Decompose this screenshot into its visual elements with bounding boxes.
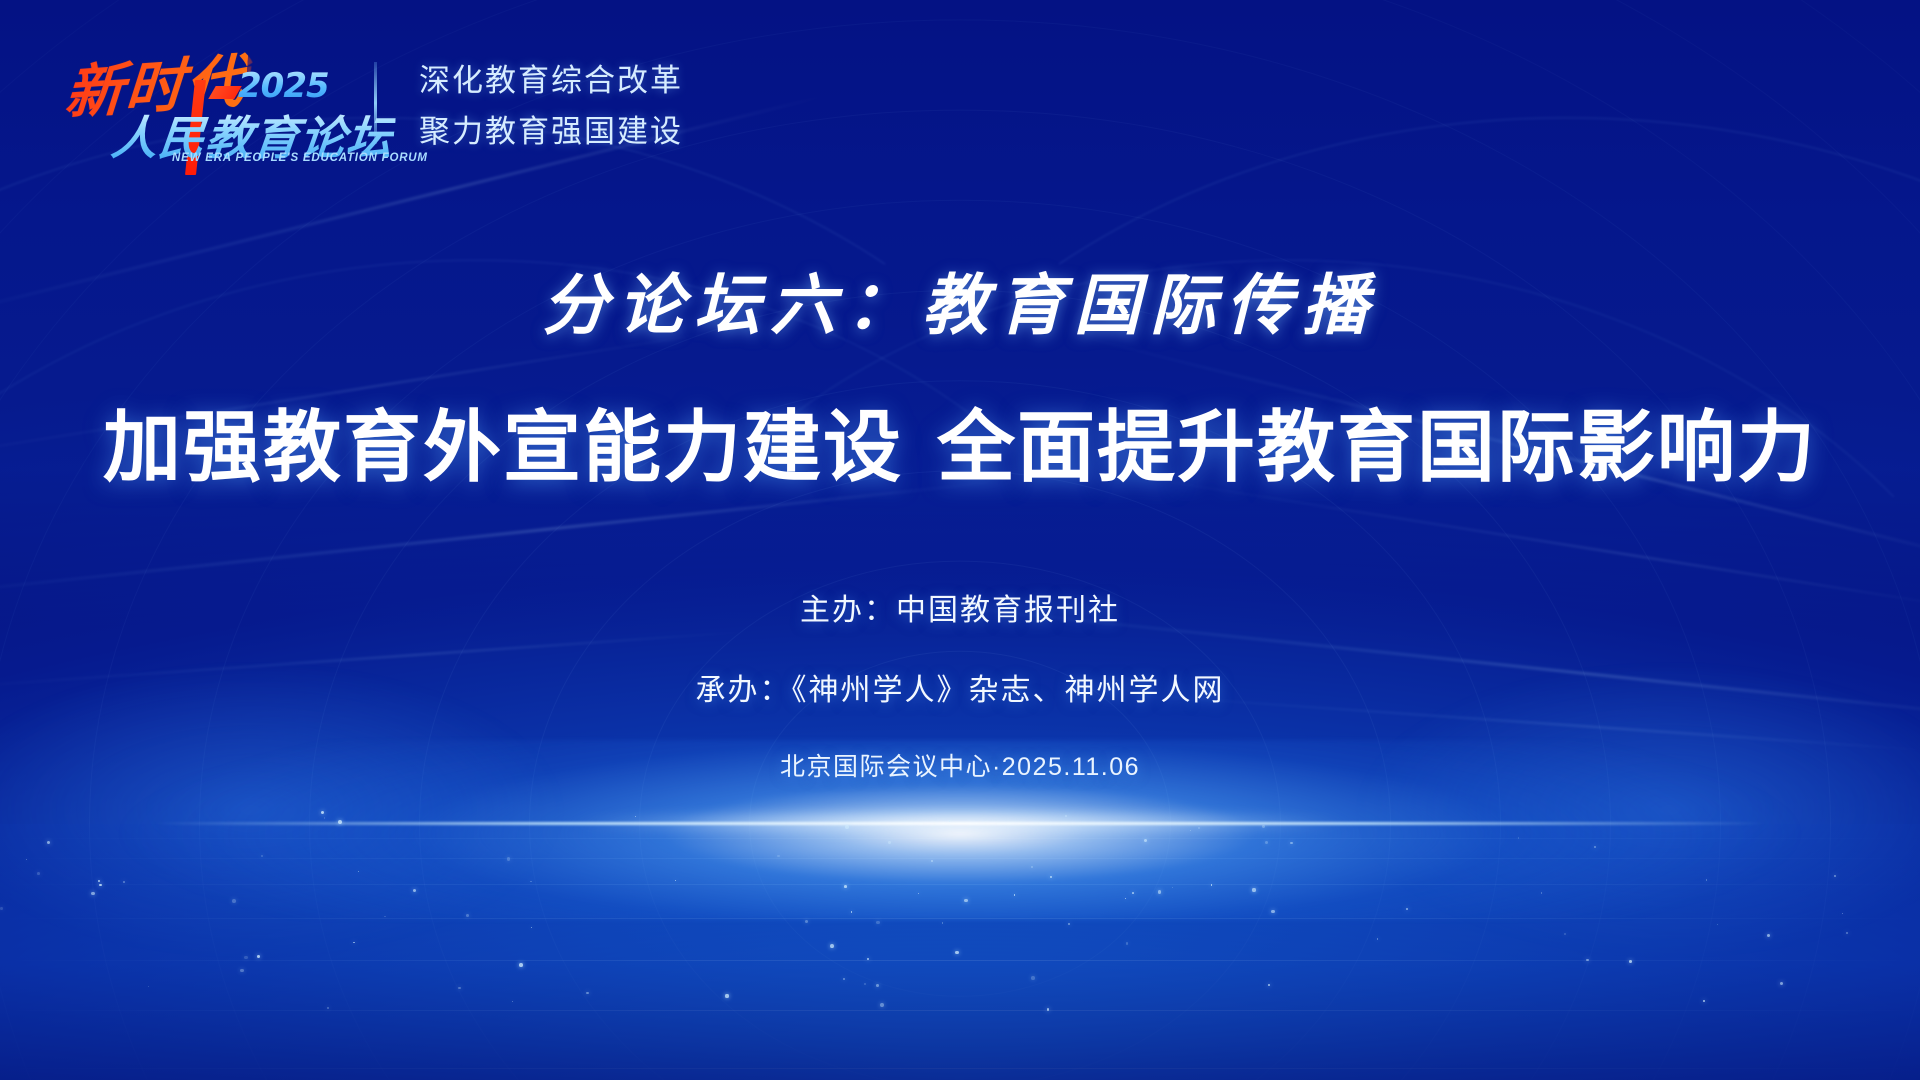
light-particles xyxy=(0,790,1920,1020)
slogan-line-2: 聚力教育强国建设 xyxy=(419,106,683,151)
logo-year: 2025 xyxy=(238,66,329,106)
headline: 加强教育外宣能力建设全面提升教育国际影响力 xyxy=(0,385,1920,497)
headline-part-2: 全面提升教育国际影响力 xyxy=(937,403,1817,491)
header-slogan: 深化教育综合改革 聚力教育强国建设 xyxy=(419,55,683,151)
organizer-line: 主办：中国教育报刊社 xyxy=(0,585,1920,629)
venue-date-line: 北京国际会议中心·2025.11.06 xyxy=(0,747,1920,783)
credits-block: 主办：中国教育报刊社 承办：《神州学人》杂志、神州学人网 北京国际会议中心·20… xyxy=(0,585,1920,783)
logo-forum-name-en: NEW ERA PEOPLE'S EDUCATION FORUM xyxy=(172,152,428,164)
forum-session-title: 分论坛六：教育国际传播 xyxy=(0,252,1920,348)
slogan-line-1: 深化教育综合改革 xyxy=(419,55,683,100)
forum-logo: 新时代 2025 人民教育论坛 NEW ERA PEOPLE'S EDUCATI… xyxy=(62,40,334,165)
co-organizer-line: 承办：《神州学人》杂志、神州学人网 xyxy=(0,665,1920,709)
poster-canvas: 新时代 2025 人民教育论坛 NEW ERA PEOPLE'S EDUCATI… xyxy=(0,0,1920,1080)
headline-part-1: 加强教育外宣能力建设 xyxy=(103,403,903,491)
header: 新时代 2025 人民教育论坛 NEW ERA PEOPLE'S EDUCATI… xyxy=(62,40,683,165)
